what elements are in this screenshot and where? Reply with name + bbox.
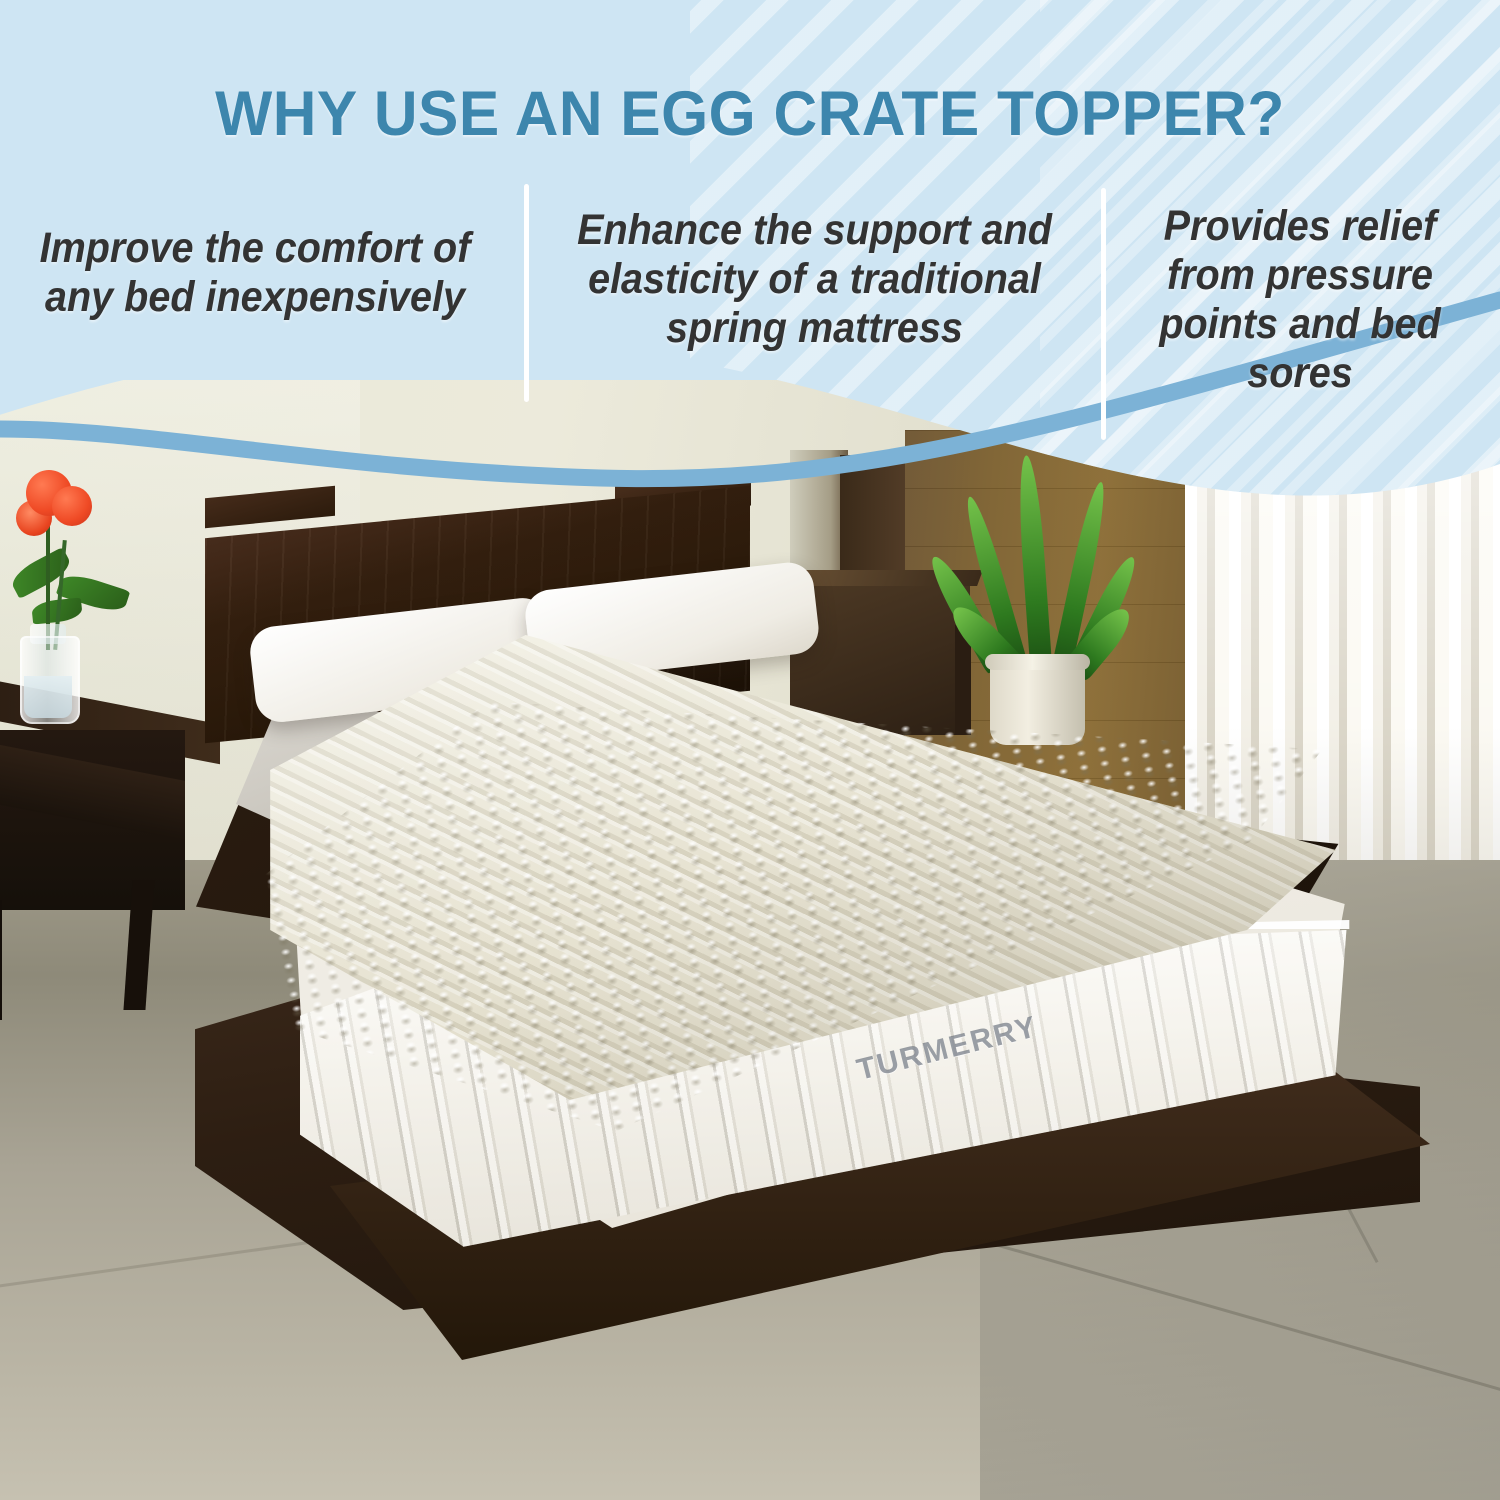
benefit-comfort: Improve the comfort of any bed inexpensi… xyxy=(30,224,481,322)
benefit-support: Enhance the support and elasticity of a … xyxy=(573,206,1056,353)
page-title: WHY USE AN EGG CRATE TOPPER? xyxy=(30,78,1470,150)
benefits-list: Improve the comfort of any bed inexpensi… xyxy=(0,176,1500,446)
benefit-pressure-relief: Provides relief from pressure points and… xyxy=(1134,202,1465,398)
back-cabinet xyxy=(790,575,970,735)
divider-2 xyxy=(1101,188,1106,440)
rose-bloom xyxy=(52,486,92,526)
plant-pot-rim xyxy=(985,654,1090,670)
nightstand-leg xyxy=(0,900,2,1020)
vase-water xyxy=(24,676,72,718)
product-infographic: TURMERRY WHY USE AN EGG CRATE TOPPER? Im… xyxy=(0,0,1500,1500)
divider-1 xyxy=(524,184,529,402)
